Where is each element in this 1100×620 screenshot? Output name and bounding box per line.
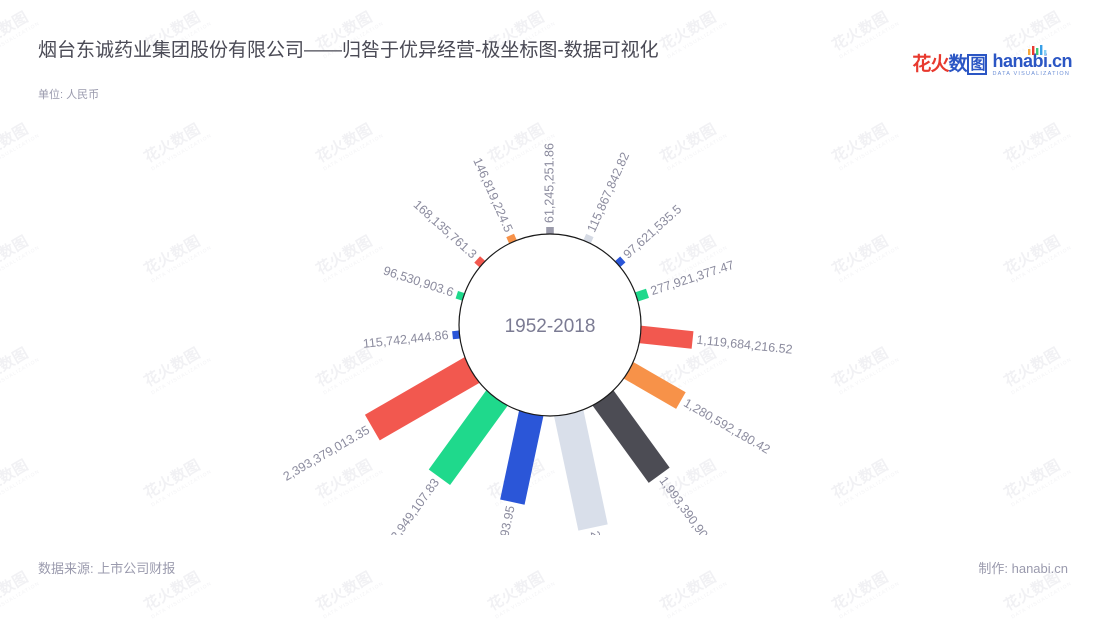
bar-value-label: 2,042,949,107.83: [374, 476, 443, 535]
brand-logo-cn: 花火数图: [912, 54, 987, 75]
bar-value-label: 115,867,842.82: [584, 150, 632, 234]
data-source-label: 数据来源: 上市公司财报: [38, 558, 175, 577]
bar-value-label: 146,819,224.5: [470, 156, 515, 235]
sparkle-icon: [1026, 45, 1048, 55]
polar-bar[interactable]: [554, 409, 608, 531]
watermark-tile: 花火数图DATA VISUALIZATION: [828, 3, 901, 61]
logo-char-tu: 图: [967, 54, 987, 75]
bar-value-label: 61,245,251.86: [542, 143, 556, 223]
brand-logo-tagline: DATA VISUALIZATION: [992, 72, 1072, 78]
watermark-tile: 花火数图DATA VISUALIZATION: [0, 563, 41, 620]
bar-value-label: 2,393,379,013.35: [281, 423, 372, 484]
polar-bar[interactable]: [638, 326, 694, 349]
watermark-tile: 花火数图DATA VISUALIZATION: [312, 563, 385, 620]
polar-bar[interactable]: [622, 361, 685, 409]
brand-logo-en-wrap: hanabi.cn DATA VISUALIZATION: [992, 52, 1072, 78]
polar-chart-svg: 1952-2018 61,245,251.86115,867,842.8297,…: [0, 95, 1100, 535]
watermark-tile: 花火数图DATA VISUALIZATION: [484, 563, 557, 620]
watermark-tile: 花火数图DATA VISUALIZATION: [656, 563, 729, 620]
bar-value-label: 1,897,003,393.95: [484, 504, 518, 535]
watermark-tile: 花火数图DATA VISUALIZATION: [828, 563, 901, 620]
brand-logo: 花火数图 hanabi.cn DATA VISUALIZATION: [912, 52, 1072, 78]
bar-value-label: 2,431,608,61: [588, 530, 617, 535]
bar-value-label: 97,621,535.5: [621, 202, 685, 261]
bar-value-label: 1,280,592,180.42: [681, 396, 772, 457]
credit-label: 制作: hanabi.cn: [978, 558, 1068, 577]
bar-value-label: 168,135,761.3: [411, 198, 480, 262]
polar-bar[interactable]: [500, 409, 544, 504]
center-range-label: 1952-2018: [505, 316, 596, 337]
unit-label: 单位: 人民币: [38, 88, 108, 103]
bar-value-label: 96,530,903.6: [382, 264, 456, 300]
bar-value-label: 1,993,390,901.43: [656, 474, 725, 535]
logo-char-shu: 数: [948, 55, 966, 74]
bar-value-label: 1,119,684,216.52: [696, 333, 793, 357]
watermark-tile: 花火数图DATA VISUALIZATION: [0, 3, 41, 61]
bar-value-label: 115,742,444.86: [362, 328, 449, 351]
logo-char-huo: 火: [930, 55, 948, 74]
bar-value-label: 277,921,377.47: [649, 258, 736, 298]
polar-chart: 1952-2018 61,245,251.86115,867,842.8297,…: [0, 95, 1100, 535]
page-title: 烟台东诚药业集团股份有限公司——归咎于优异经营-极坐标图-数据可视化: [38, 36, 838, 66]
polar-bar[interactable]: [592, 389, 670, 482]
logo-char-hua: 花: [912, 55, 930, 74]
